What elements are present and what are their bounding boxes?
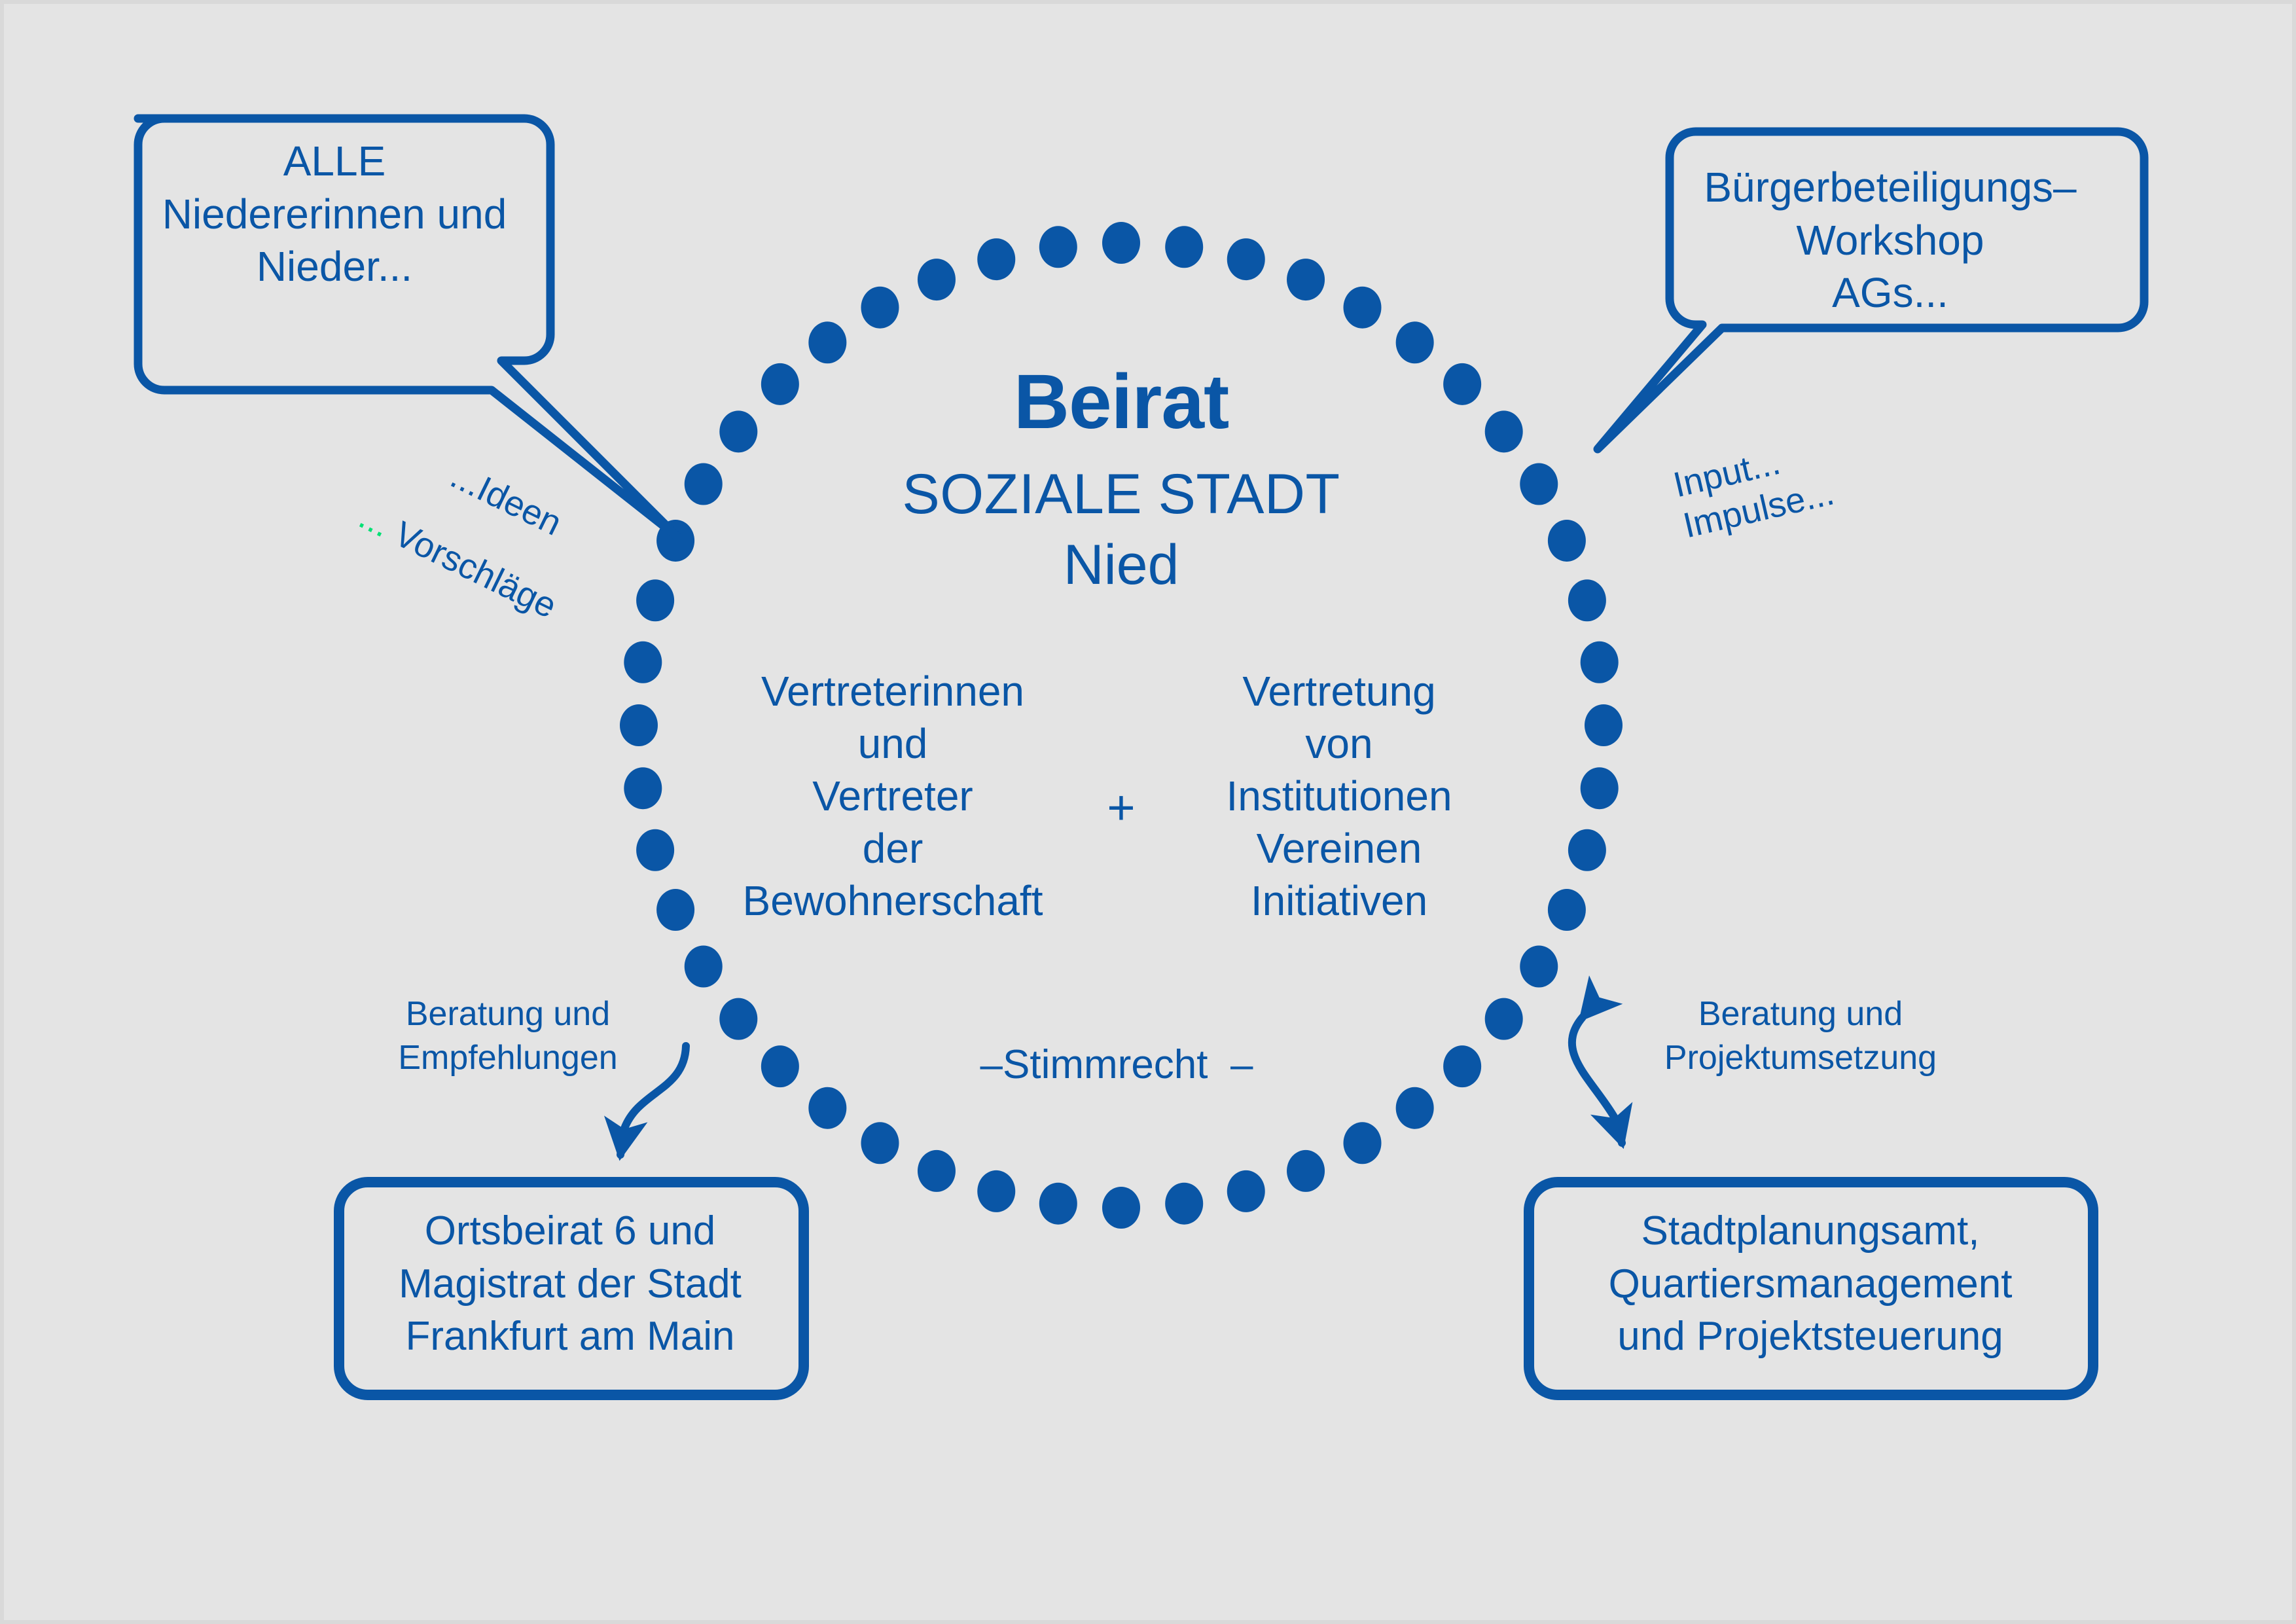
circle-dot: [656, 889, 694, 931]
box-bottom-left-label: Ortsbeirat 6 und Magistrat der Stadt Fra…: [399, 1205, 742, 1363]
circle-dot: [1443, 363, 1481, 405]
circle-dot: [1485, 410, 1523, 452]
diagram-canvas: Beirat SOZIALE STADT Nied Vertreterinnen…: [0, 0, 2296, 1624]
circle-dot: [719, 998, 757, 1040]
arrow-to-bottom-left: [620, 1046, 686, 1155]
arrow-bidirectional-bottom-right: [1572, 1017, 1622, 1143]
circle-dot: [624, 641, 662, 683]
circle-dot: [861, 1122, 899, 1164]
circle-dot: [1581, 641, 1619, 683]
circle-dot: [636, 579, 674, 621]
bubble-top-right-label: Bürgerbeteiligungs– Workshop AGs...: [1704, 161, 2076, 319]
circle-dot: [1165, 1183, 1203, 1225]
circle-dot: [719, 410, 757, 452]
circle-dot: [1568, 579, 1606, 621]
circle-dot: [1568, 829, 1606, 871]
circle-dot: [1102, 222, 1140, 264]
circle-dot: [1287, 259, 1325, 300]
circle-dot: [1396, 321, 1434, 363]
circle-dot: [1548, 889, 1586, 931]
circle-dot: [1227, 1170, 1265, 1212]
circle-dot: [685, 463, 723, 505]
circle-dot: [624, 767, 662, 809]
circle-dot: [1520, 946, 1558, 988]
circle-dot: [1585, 704, 1623, 746]
circle-dot: [1581, 767, 1619, 809]
circle-dot: [1102, 1187, 1140, 1229]
circle-dot: [977, 1170, 1015, 1212]
member-column-residents: Vertreterinnen und Vertreter der Bewohne…: [743, 665, 1043, 927]
circle-dot: [1039, 1183, 1077, 1225]
plus-symbol: +: [1107, 780, 1135, 836]
bubble-top-left-label: ALLE Niedererinnen und Nieder...: [162, 135, 507, 293]
circle-dot: [685, 946, 723, 988]
circle-dot: [1520, 463, 1558, 505]
circle-dot: [620, 704, 658, 746]
page-title: Beirat: [1014, 357, 1229, 447]
circle-dot: [1443, 1045, 1481, 1087]
subtitle-line-2: Nied: [1064, 533, 1179, 598]
circle-dot: [1344, 1122, 1382, 1164]
subtitle-line-1: SOZIALE STADT: [902, 462, 1340, 528]
circle-dot: [1548, 520, 1586, 562]
member-column-institutions: Vertretung von Institutionen Vereinen In…: [1226, 665, 1452, 927]
caption-bottom-left-arrow: Beratung und Empfehlungen: [398, 992, 617, 1079]
circle-dot: [861, 287, 899, 329]
circle-dot: [808, 1087, 846, 1129]
circle-dot: [808, 321, 846, 363]
circle-dot: [1287, 1150, 1325, 1192]
voting-rights-note: –Stimmrecht –: [980, 1041, 1253, 1089]
circle-dot: [761, 363, 799, 405]
caption-bottom-right-arrow: Beratung und Projektumsetzung: [1664, 992, 1937, 1079]
box-bottom-right-label: Stadtplanungsamt, Quartiersmanagement un…: [1609, 1205, 2013, 1363]
circle-dot: [1165, 226, 1203, 268]
circle-dot: [1039, 226, 1077, 268]
circle-dot: [1344, 287, 1382, 329]
circle-dot: [918, 259, 956, 300]
circle-dot: [761, 1045, 799, 1087]
circle-dot: [1227, 238, 1265, 280]
circle-dot: [1485, 998, 1523, 1040]
circle-dot: [977, 238, 1015, 280]
circle-dot: [1396, 1087, 1434, 1129]
circle-dot: [636, 829, 674, 871]
circle-dot: [918, 1150, 956, 1192]
